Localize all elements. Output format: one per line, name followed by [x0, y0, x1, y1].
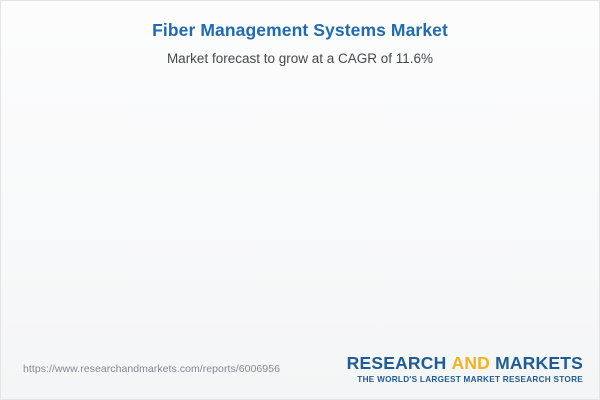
infographic-card: Fiber Management Systems Market Market f…: [0, 0, 600, 400]
logo-word-markets: MARKETS: [495, 353, 583, 373]
logo-wordmark: RESEARCH AND MARKETS: [347, 353, 583, 373]
report-url-link[interactable]: https://www.researchandmarkets.com/repor…: [23, 363, 280, 375]
footer: https://www.researchandmarkets.com/repor…: [1, 347, 600, 399]
brand-logo[interactable]: RESEARCH AND MARKETS THE WORLD'S LARGEST…: [347, 353, 583, 385]
logo-word-research: RESEARCH: [347, 353, 447, 373]
bar-chart: USD 8.1 Billion: [1, 1, 600, 346]
logo-tagline: THE WORLD'S LARGEST MARKET RESEARCH STOR…: [347, 374, 583, 385]
logo-word-and: AND: [451, 353, 490, 373]
